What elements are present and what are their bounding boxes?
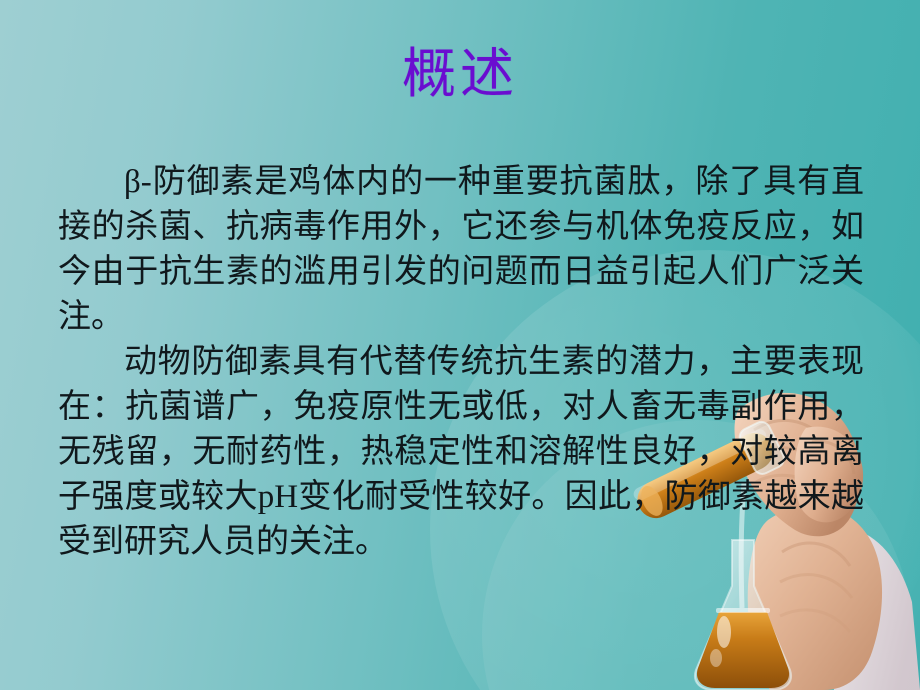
slide: 概述 β-防御素是鸡体内的一种重要抗菌肽，除了具有直接的杀菌、抗病毒作用外，它还…: [0, 0, 920, 690]
page-title: 概述: [0, 46, 920, 103]
body-content: β-防御素是鸡体内的一种重要抗菌肽，除了具有直接的杀菌、抗病毒作用外，它还参与机…: [58, 160, 864, 565]
paragraph-1: β-防御素是鸡体内的一种重要抗菌肽，除了具有直接的杀菌、抗病毒作用外，它还参与机…: [58, 160, 864, 340]
paragraph-2: 动物防御素具有代替传统抗生素的潜力，主要表现在：抗菌谱广，免疫原性无或低，对人畜…: [58, 340, 864, 565]
flask-liquid: [697, 612, 789, 688]
